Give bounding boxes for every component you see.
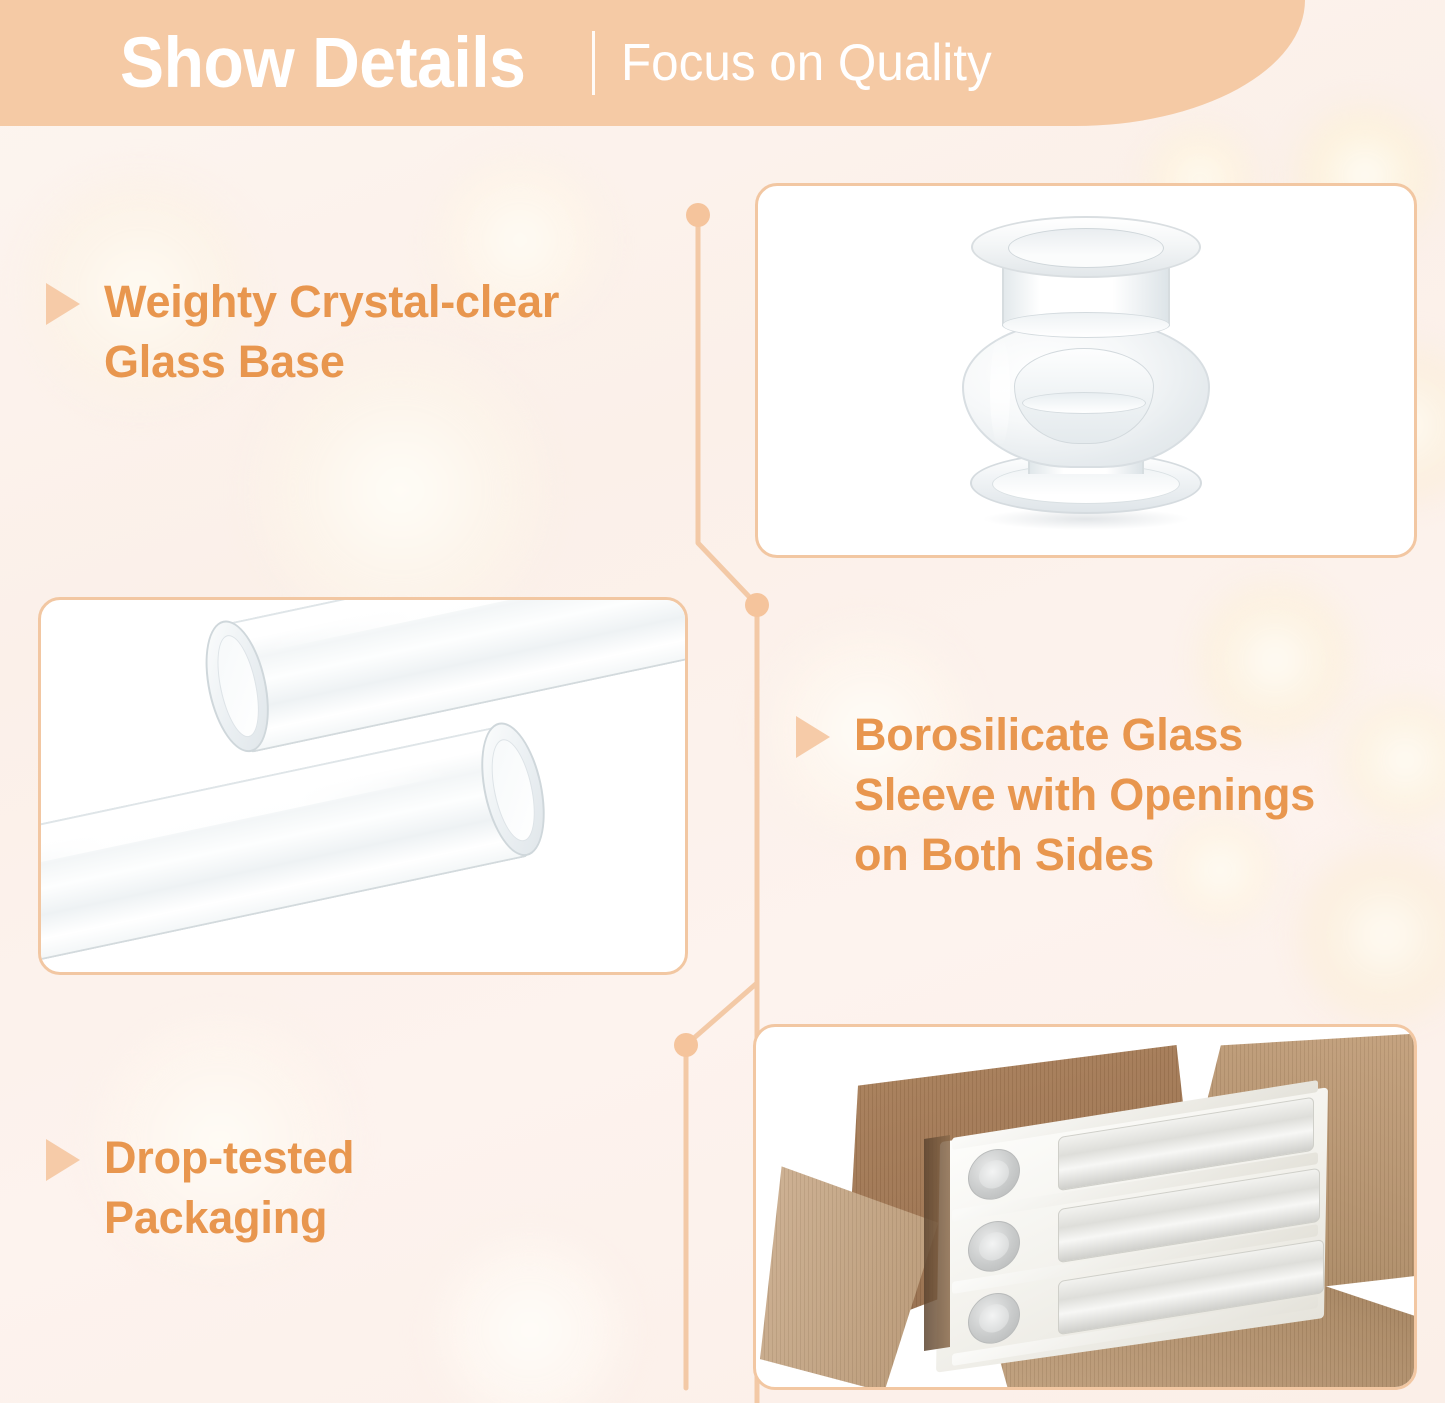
glass-candle-holder-illustration bbox=[936, 216, 1236, 526]
feature-label-group: Drop-tested Packaging bbox=[104, 1128, 354, 1248]
feature-label-line: Sleeve with Openings bbox=[854, 765, 1315, 825]
infographic-page: Show Details Focus on Quality bbox=[0, 0, 1445, 1403]
feature-weighty-glass-base[interactable]: Weighty Crystal-clear Glass Base bbox=[46, 272, 686, 392]
feature-label-line: Glass Base bbox=[104, 332, 559, 392]
header-subtitle: Focus on Quality bbox=[621, 37, 992, 89]
page-title: Show Details bbox=[120, 28, 525, 99]
glass-tube-upper bbox=[188, 600, 685, 757]
feature-borosilicate-sleeve[interactable]: Borosilicate Glass Sleeve with Openings … bbox=[796, 705, 1426, 885]
triangle-right-icon bbox=[46, 283, 80, 325]
glass-sleeve-photo bbox=[41, 600, 685, 972]
glass-tube-lower-body bbox=[41, 726, 528, 972]
photo-card-glass-base[interactable] bbox=[755, 183, 1417, 558]
glass-tube-upper-body bbox=[223, 600, 685, 753]
feature-label-group: Borosilicate Glass Sleeve with Openings … bbox=[854, 705, 1315, 885]
connector-node-1 bbox=[686, 203, 710, 227]
feature-label-line: Packaging bbox=[104, 1188, 354, 1248]
box-inner-wall bbox=[924, 1135, 950, 1351]
photo-card-glass-sleeve[interactable] bbox=[38, 597, 688, 975]
header-banner: Show Details Focus on Quality bbox=[0, 0, 1305, 126]
glass-base-highlight bbox=[990, 336, 1010, 446]
photo-card-packaging[interactable] bbox=[753, 1024, 1417, 1390]
glass-base-photo bbox=[758, 186, 1414, 555]
glass-base-neck-band bbox=[1002, 312, 1170, 338]
glass-tube-lower bbox=[41, 716, 571, 972]
triangle-right-icon bbox=[796, 716, 830, 758]
triangle-right-icon bbox=[46, 1139, 80, 1181]
feature-label-line: Weighty Crystal-clear bbox=[104, 272, 559, 332]
connector-node-3 bbox=[674, 1033, 698, 1057]
glass-base-rim-well bbox=[1008, 228, 1164, 268]
feature-label-line: Drop-tested bbox=[104, 1128, 354, 1188]
packaging-photo bbox=[756, 1027, 1414, 1387]
feature-label-line: Borosilicate Glass bbox=[854, 705, 1315, 765]
feature-drop-tested-packaging[interactable]: Drop-tested Packaging bbox=[46, 1128, 606, 1248]
feature-label-group: Weighty Crystal-clear Glass Base bbox=[104, 272, 559, 392]
glass-base-body-ring bbox=[1022, 392, 1146, 414]
header-divider bbox=[592, 31, 595, 95]
shipping-box-illustration bbox=[756, 1027, 1414, 1387]
feature-label-line: on Both Sides bbox=[854, 825, 1315, 885]
connector-node-2 bbox=[745, 593, 769, 617]
header-content: Show Details Focus on Quality bbox=[120, 0, 1011, 126]
